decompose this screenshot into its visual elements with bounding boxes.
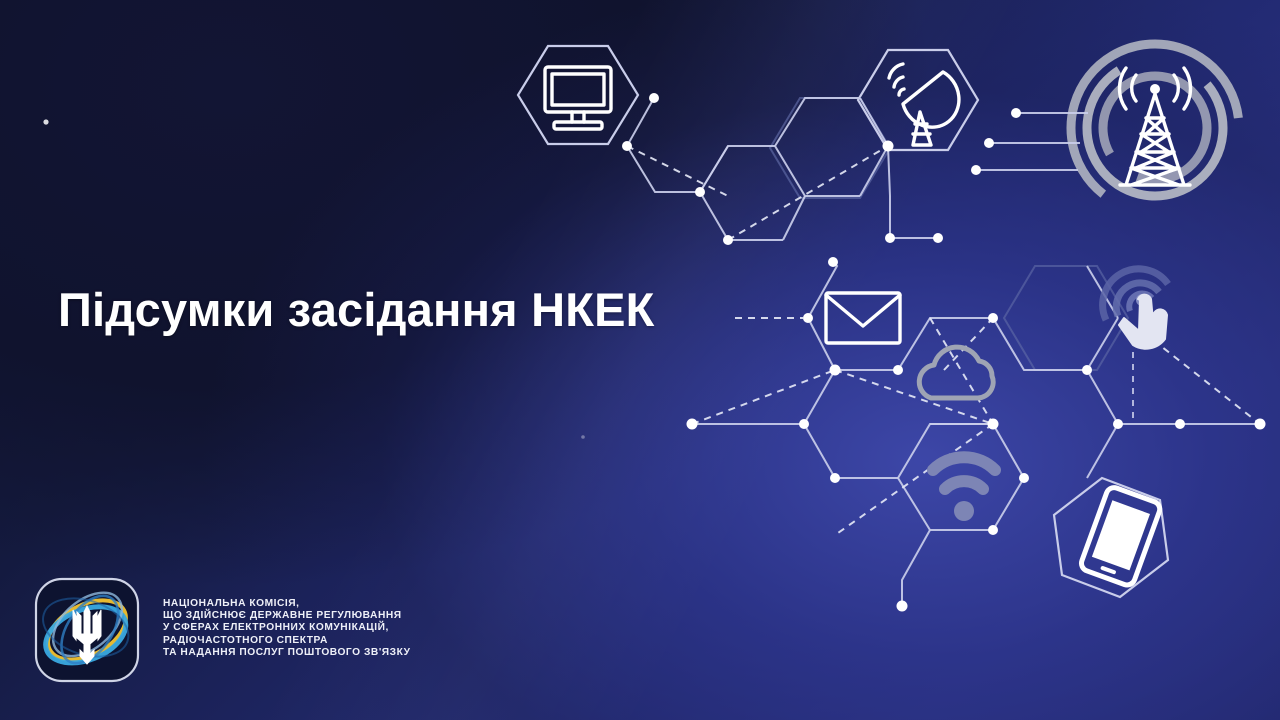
link-line <box>888 146 890 238</box>
network-node <box>828 257 838 267</box>
network-node <box>830 365 841 376</box>
network-node <box>687 419 698 430</box>
network-node <box>1255 419 1266 430</box>
network-node <box>723 235 733 245</box>
link-line <box>627 146 700 192</box>
wifi-icon <box>933 457 995 521</box>
link-line <box>993 318 1087 370</box>
link-line <box>740 370 835 424</box>
network-node <box>897 601 908 612</box>
network-node <box>883 141 894 152</box>
network-node <box>803 313 813 323</box>
org-line-3: У СФЕРАХ ЕЛЕКТРОННИХ КОМУНІКАЦІЙ, <box>163 622 411 634</box>
network-node <box>933 233 943 243</box>
network-node <box>988 525 998 535</box>
org-name: НАЦІОНАЛЬНА КОМІСІЯ, ЩО ЗДІЙСНЮЄ ДЕРЖАВН… <box>163 598 411 659</box>
link-line <box>1087 424 1118 478</box>
network-node <box>1082 365 1092 375</box>
bottom-network-cluster <box>687 257 1266 612</box>
link-line <box>860 98 888 146</box>
link-line-dashed <box>1143 332 1260 424</box>
radio-tower-group <box>971 10 1273 246</box>
network-node <box>622 141 632 151</box>
logo-block: НАЦІОНАЛЬНА КОМІСІЯ, ЩО ЗДІЙСНЮЄ ДЕРЖАВН… <box>33 576 411 684</box>
network-node <box>1175 419 1185 429</box>
cloud-icon <box>919 347 993 398</box>
network-node <box>799 419 809 429</box>
top-network-cluster <box>518 46 978 245</box>
satellite-dish-icon <box>889 64 959 145</box>
org-line-4: РАДІОЧАСТОТНОГО СПЕКТРА <box>163 635 411 647</box>
link-line <box>902 530 930 606</box>
nkek-emblem <box>33 576 141 684</box>
network-node <box>885 233 895 243</box>
org-line-5: ТА НАДАННЯ ПОСЛУГ ПОШТОВОГО ЗВ'ЯЗКУ <box>163 647 411 659</box>
link-line <box>775 146 860 196</box>
network-node <box>988 419 999 430</box>
slide-canvas: .ln { stroke:#c9cdea; stroke-width:2; fi… <box>0 0 1280 720</box>
link-line <box>783 196 805 240</box>
page-title: Підсумки засідання НКЕК <box>58 282 655 337</box>
link-line-dashed <box>930 318 993 424</box>
smartphone-icon <box>1079 485 1162 587</box>
star-dot <box>43 119 48 124</box>
link-line <box>775 98 860 146</box>
link-line <box>808 262 837 318</box>
network-node <box>1113 419 1123 429</box>
link-line <box>804 424 898 478</box>
org-line-2: ЩО ЗДІЙСНЮЄ ДЕРЖАВНЕ РЕГУЛЮВАННЯ <box>163 610 411 622</box>
org-line-1: НАЦІОНАЛЬНА КОМІСІЯ, <box>163 598 411 610</box>
hexagon-faint-top <box>770 98 890 198</box>
link-line <box>898 424 993 478</box>
network-node <box>695 187 705 197</box>
link-line <box>700 146 728 192</box>
link-line <box>898 478 930 530</box>
star-dot <box>581 435 585 439</box>
network-node <box>830 473 840 483</box>
network-node <box>988 313 998 323</box>
network-node <box>893 365 903 375</box>
monitor-icon <box>545 67 611 129</box>
link-line <box>700 146 775 192</box>
network-node <box>1019 473 1029 483</box>
network-node <box>649 93 659 103</box>
link-line-dashed <box>692 370 835 424</box>
radio-tower-icon <box>1119 68 1190 185</box>
envelope-icon <box>826 293 900 343</box>
